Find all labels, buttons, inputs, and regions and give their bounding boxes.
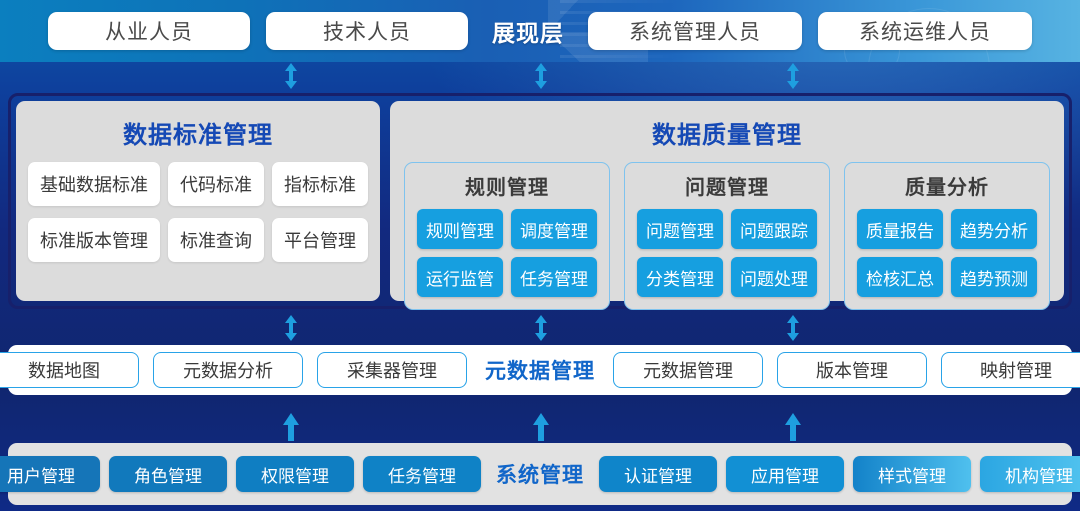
metadata-management-row: 数据地图 元数据分析 采集器管理 元数据管理 元数据管理 版本管理 映射管理 bbox=[8, 345, 1072, 395]
chip-label: 标准查询 bbox=[180, 227, 252, 253]
button-label: 问题跟踪 bbox=[740, 217, 808, 242]
button-label: 角色管理 bbox=[134, 462, 202, 487]
pill-label: 元数据管理 bbox=[643, 357, 733, 383]
metadata-pill-data-map[interactable]: 数据地图 bbox=[0, 352, 139, 388]
role-chip-label: 从业人员 bbox=[105, 16, 193, 46]
button-label: 调度管理 bbox=[520, 217, 588, 242]
button-label: 规则管理 bbox=[426, 217, 494, 242]
column-title: 规则管理 bbox=[465, 171, 549, 200]
quality-button-schedule-mgmt[interactable]: 调度管理 bbox=[511, 209, 597, 249]
metadata-row-title: 元数据管理 bbox=[481, 355, 599, 385]
data-standard-panel: 数据标准管理 基础数据标准 代码标准 指标标准 标准版本管理 bbox=[16, 101, 380, 301]
button-label: 分类管理 bbox=[646, 265, 714, 290]
presentation-layer-header: 从业人员 技术人员 展现层 系统管理人员 系统运维人员 bbox=[0, 0, 1080, 62]
up-arrow-icon bbox=[280, 412, 302, 442]
role-chip-technician[interactable]: 技术人员 bbox=[266, 12, 468, 50]
button-label: 趋势预测 bbox=[960, 265, 1028, 290]
connector-arrows-middle bbox=[0, 314, 1080, 342]
pill-label: 元数据分析 bbox=[183, 357, 273, 383]
system-button-user-mgmt[interactable]: 用户管理 bbox=[0, 456, 100, 492]
quality-button-check-summary[interactable]: 检核汇总 bbox=[857, 257, 943, 297]
double-arrow-vertical-icon bbox=[530, 314, 552, 342]
standard-chip-version[interactable]: 标准版本管理 bbox=[28, 218, 160, 262]
system-button-permission-mgmt[interactable]: 权限管理 bbox=[236, 456, 354, 492]
quality-column-analysis: 质量分析 质量报告 趋势分析 检核汇总 趋势预测 bbox=[844, 162, 1050, 310]
metadata-pill-metadata-mgmt[interactable]: 元数据管理 bbox=[613, 352, 763, 388]
column-button-grid: 规则管理 调度管理 运行监管 任务管理 bbox=[417, 209, 597, 297]
column-button-grid: 问题管理 问题跟踪 分类管理 问题处理 bbox=[637, 209, 817, 297]
panel-title: 数据质量管理 bbox=[652, 115, 802, 150]
button-label: 任务管理 bbox=[520, 265, 588, 290]
system-button-auth-mgmt[interactable]: 认证管理 bbox=[599, 456, 717, 492]
metadata-pill-collector-mgmt[interactable]: 采集器管理 bbox=[317, 352, 467, 388]
data-quality-panel: 数据质量管理 规则管理 规则管理 调度管理 运行监管 任务管理 bbox=[390, 101, 1064, 301]
pill-label: 数据地图 bbox=[28, 357, 100, 383]
button-label: 问题管理 bbox=[646, 217, 714, 242]
button-label: 用户管理 bbox=[7, 462, 75, 487]
standard-chip-row: 标准版本管理 标准查询 平台管理 bbox=[28, 218, 368, 262]
system-button-task-mgmt[interactable]: 任务管理 bbox=[363, 456, 481, 492]
button-row: 规则管理 调度管理 bbox=[417, 209, 597, 249]
quality-button-run-monitor[interactable]: 运行监管 bbox=[417, 257, 503, 297]
metadata-pill-mapping-mgmt[interactable]: 映射管理 bbox=[941, 352, 1080, 388]
standard-chip-code[interactable]: 代码标准 bbox=[168, 162, 264, 206]
quality-columns: 规则管理 规则管理 调度管理 运行监管 任务管理 问题管理 bbox=[400, 162, 1054, 310]
presentation-layer-title: 展现层 bbox=[484, 14, 572, 48]
button-row: 质量报告 趋势分析 bbox=[857, 209, 1037, 249]
role-chip-label: 技术人员 bbox=[323, 16, 411, 46]
button-row: 问题管理 问题跟踪 bbox=[637, 209, 817, 249]
column-button-grid: 质量报告 趋势分析 检核汇总 趋势预测 bbox=[857, 209, 1037, 297]
system-button-org-mgmt[interactable]: 机构管理 bbox=[980, 456, 1080, 492]
pill-label: 采集器管理 bbox=[347, 357, 437, 383]
standard-chip-query[interactable]: 标准查询 bbox=[168, 218, 264, 262]
quality-column-issue: 问题管理 问题管理 问题跟踪 分类管理 问题处理 bbox=[624, 162, 830, 310]
system-button-app-mgmt[interactable]: 应用管理 bbox=[726, 456, 844, 492]
button-label: 质量报告 bbox=[866, 217, 934, 242]
button-row: 分类管理 问题处理 bbox=[637, 257, 817, 297]
metadata-pill-metadata-analysis[interactable]: 元数据分析 bbox=[153, 352, 303, 388]
quality-button-quality-report[interactable]: 质量报告 bbox=[857, 209, 943, 249]
connector-arrows-top bbox=[0, 62, 1080, 90]
double-arrow-vertical-icon bbox=[782, 62, 804, 90]
quality-button-task-mgmt[interactable]: 任务管理 bbox=[511, 257, 597, 297]
chip-label: 指标标准 bbox=[284, 171, 356, 197]
standard-chip-platform[interactable]: 平台管理 bbox=[272, 218, 368, 262]
panel-title: 数据标准管理 bbox=[123, 115, 273, 150]
button-label: 应用管理 bbox=[751, 462, 819, 487]
button-row: 检核汇总 趋势预测 bbox=[857, 257, 1037, 297]
quality-button-issue-handle[interactable]: 问题处理 bbox=[731, 257, 817, 297]
quality-column-rule: 规则管理 规则管理 调度管理 运行监管 任务管理 bbox=[404, 162, 610, 310]
button-label: 权限管理 bbox=[261, 462, 329, 487]
pill-label: 版本管理 bbox=[816, 357, 888, 383]
connector-arrows-bottom bbox=[0, 412, 1080, 442]
up-arrow-icon bbox=[782, 412, 804, 442]
double-arrow-vertical-icon bbox=[280, 314, 302, 342]
standard-chip-basic-data[interactable]: 基础数据标准 bbox=[28, 162, 160, 206]
button-label: 机构管理 bbox=[1005, 462, 1073, 487]
role-chip-system-ops[interactable]: 系统运维人员 bbox=[818, 12, 1032, 50]
standard-chip-indicator[interactable]: 指标标准 bbox=[272, 162, 368, 206]
chip-label: 平台管理 bbox=[284, 227, 356, 253]
column-title: 问题管理 bbox=[685, 171, 769, 200]
button-label: 样式管理 bbox=[878, 462, 946, 487]
role-chip-practitioner[interactable]: 从业人员 bbox=[48, 12, 250, 50]
button-label: 运行监管 bbox=[426, 265, 494, 290]
management-band: 数据标准管理 基础数据标准 代码标准 指标标准 标准版本管理 bbox=[8, 93, 1072, 309]
chip-label: 基础数据标准 bbox=[40, 171, 148, 197]
diagram-root: 从业人员 技术人员 展现层 系统管理人员 系统运维人员 bbox=[0, 0, 1080, 511]
role-chip-label: 系统运维人员 bbox=[859, 16, 991, 46]
button-label: 认证管理 bbox=[624, 462, 692, 487]
pill-label: 映射管理 bbox=[980, 357, 1052, 383]
role-chip-label: 系统管理人员 bbox=[629, 16, 761, 46]
standard-chip-row: 基础数据标准 代码标准 指标标准 bbox=[28, 162, 368, 206]
button-row: 运行监管 任务管理 bbox=[417, 257, 597, 297]
chip-label: 标准版本管理 bbox=[40, 227, 148, 253]
quality-button-issue-track[interactable]: 问题跟踪 bbox=[731, 209, 817, 249]
button-label: 任务管理 bbox=[388, 462, 456, 487]
system-button-role-mgmt[interactable]: 角色管理 bbox=[109, 456, 227, 492]
double-arrow-vertical-icon bbox=[280, 62, 302, 90]
system-button-style-mgmt[interactable]: 样式管理 bbox=[853, 456, 971, 492]
metadata-pill-version-mgmt[interactable]: 版本管理 bbox=[777, 352, 927, 388]
chip-label: 代码标准 bbox=[180, 171, 252, 197]
up-arrow-icon bbox=[530, 412, 552, 442]
button-label: 趋势分析 bbox=[960, 217, 1028, 242]
standard-chip-grid: 基础数据标准 代码标准 指标标准 标准版本管理 标准查询 bbox=[28, 162, 368, 262]
role-chip-system-admin[interactable]: 系统管理人员 bbox=[588, 12, 802, 50]
quality-button-trend-analysis[interactable]: 趋势分析 bbox=[951, 209, 1037, 249]
system-row-title: 系统管理 bbox=[490, 459, 590, 489]
system-management-row: 用户管理 角色管理 权限管理 任务管理 系统管理 认证管理 应用管理 样式管理 … bbox=[8, 443, 1072, 505]
quality-button-category-mgmt[interactable]: 分类管理 bbox=[637, 257, 723, 297]
quality-button-rule-mgmt[interactable]: 规则管理 bbox=[417, 209, 503, 249]
quality-button-issue-mgmt[interactable]: 问题管理 bbox=[637, 209, 723, 249]
double-arrow-vertical-icon bbox=[530, 62, 552, 90]
quality-button-trend-forecast[interactable]: 趋势预测 bbox=[951, 257, 1037, 297]
button-label: 问题处理 bbox=[740, 265, 808, 290]
double-arrow-vertical-icon bbox=[782, 314, 804, 342]
button-label: 检核汇总 bbox=[866, 265, 934, 290]
column-title: 质量分析 bbox=[905, 171, 989, 200]
